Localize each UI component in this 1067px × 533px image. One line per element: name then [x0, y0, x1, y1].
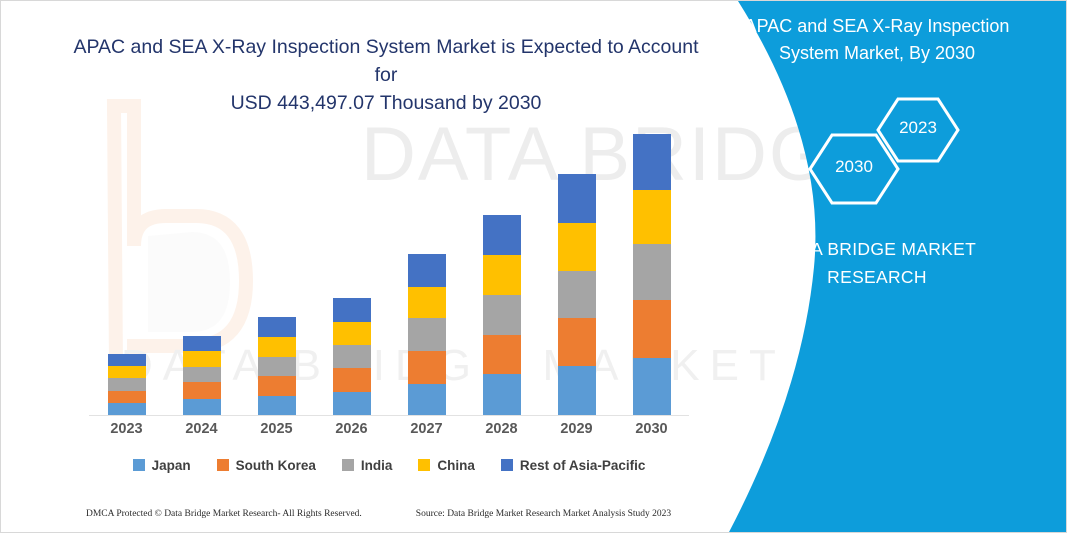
bar-2026	[333, 298, 371, 415]
x-axis-line	[89, 415, 689, 416]
bar-segment-japan-2028	[483, 374, 521, 415]
legend-swatch-icon	[342, 459, 354, 471]
bar-segment-china-2027	[408, 287, 446, 319]
x-axis-label-2025: 2025	[247, 421, 307, 437]
bar-segment-china-2026	[333, 322, 371, 345]
x-axis-label-2027: 2027	[397, 421, 457, 437]
bar-segment-china-2030	[633, 190, 671, 244]
bar-segment-china-2025	[258, 337, 296, 357]
chart-legend: JapanSouth KoreaIndiaChinaRest of Asia-P…	[89, 453, 689, 477]
bar-segment-south-korea-2028	[483, 335, 521, 375]
brand-line2: RESEARCH	[712, 263, 1042, 291]
legend-label: South Korea	[236, 458, 316, 473]
bar-2030	[633, 134, 671, 415]
bar-segment-japan-2023	[108, 403, 146, 415]
footer-source: Source: Data Bridge Market Research Mark…	[416, 509, 671, 519]
bar-segment-india-2027	[408, 318, 446, 351]
legend-item-japan[interactable]: Japan	[133, 458, 191, 473]
legend-swatch-icon	[501, 459, 513, 471]
bar-2028	[483, 215, 521, 415]
bar-segment-south-korea-2029	[558, 318, 596, 366]
page-title-line1: APAC and SEA X-Ray Inspection System Mar…	[61, 33, 711, 89]
bar-segment-japan-2026	[333, 392, 371, 415]
panel-title-line1: APAC and SEA X-Ray Inspection	[712, 13, 1042, 40]
bar-segment-south-korea-2026	[333, 368, 371, 391]
legend-label: Japan	[152, 458, 191, 473]
bar-segment-south-korea-2024	[183, 382, 221, 398]
bar-segment-japan-2024	[183, 399, 221, 415]
legend-item-china[interactable]: China	[418, 458, 475, 473]
x-axis-labels: 20232024202520262027202820292030	[89, 421, 689, 443]
bar-segment-china-2029	[558, 223, 596, 271]
bar-segment-china-2023	[108, 366, 146, 378]
bar-segment-rest-of-asia-pacific-2024	[183, 336, 221, 351]
bar-segment-rest-of-asia-pacific-2026	[333, 298, 371, 321]
footer-copyright: DMCA Protected © Data Bridge Market Rese…	[86, 509, 362, 519]
bar-segment-south-korea-2025	[258, 376, 296, 395]
hexagon-label-2023: 2023	[878, 118, 958, 138]
hexagon-outlines	[676, 97, 1066, 207]
bar-segment-rest-of-asia-pacific-2023	[108, 354, 146, 366]
bar-segment-china-2024	[183, 351, 221, 367]
bar-segment-india-2023	[108, 378, 146, 390]
footer: DMCA Protected © Data Bridge Market Rese…	[86, 509, 706, 519]
bar-2025	[258, 317, 296, 415]
bar-segment-south-korea-2023	[108, 391, 146, 403]
bar-segment-japan-2030	[633, 358, 671, 415]
bar-segment-rest-of-asia-pacific-2027	[408, 254, 446, 287]
x-axis-label-2026: 2026	[322, 421, 382, 437]
panel-title-line2: System Market, By 2030	[712, 40, 1042, 67]
brand-name: DATA BRIDGE MARKET RESEARCH	[712, 235, 1042, 291]
hexagon-group: 2023 2030	[676, 97, 1066, 207]
bar-segment-china-2028	[483, 255, 521, 295]
bar-2024	[183, 336, 221, 415]
bar-segment-rest-of-asia-pacific-2028	[483, 215, 521, 256]
stacked-bar-chart	[89, 111, 689, 416]
legend-swatch-icon	[217, 459, 229, 471]
legend-label: India	[361, 458, 393, 473]
legend-swatch-icon	[418, 459, 430, 471]
legend-item-south-korea[interactable]: South Korea	[217, 458, 316, 473]
panel-title: APAC and SEA X-Ray Inspection System Mar…	[712, 13, 1042, 67]
bar-segment-india-2025	[258, 357, 296, 376]
brand-line1: DATA BRIDGE MARKET	[712, 235, 1042, 263]
bar-segment-rest-of-asia-pacific-2030	[633, 134, 671, 190]
x-axis-label-2029: 2029	[547, 421, 607, 437]
bar-segment-south-korea-2027	[408, 351, 446, 384]
bar-segment-india-2028	[483, 295, 521, 335]
x-axis-label-2023: 2023	[97, 421, 157, 437]
bar-segment-india-2029	[558, 271, 596, 319]
bar-2029	[558, 174, 596, 415]
x-axis-label-2024: 2024	[172, 421, 232, 437]
legend-label: Rest of Asia-Pacific	[520, 458, 646, 473]
bar-2027	[408, 254, 446, 415]
brand-panel: APAC and SEA X-Ray Inspection System Mar…	[676, 1, 1066, 533]
legend-item-rest-of-asia-pacific[interactable]: Rest of Asia-Pacific	[501, 458, 646, 473]
chart-plot-area	[89, 111, 689, 416]
page-title: APAC and SEA X-Ray Inspection System Mar…	[61, 33, 711, 117]
bar-segment-india-2030	[633, 244, 671, 300]
bar-2023	[108, 354, 146, 415]
legend-swatch-icon	[133, 459, 145, 471]
legend-label: China	[437, 458, 475, 473]
bar-segment-south-korea-2030	[633, 300, 671, 358]
bar-segment-rest-of-asia-pacific-2025	[258, 317, 296, 336]
bar-segment-india-2024	[183, 367, 221, 382]
chart-infographic: DATA BRIDGE DATA BRIDGE MARKET RESEARCH …	[0, 0, 1067, 533]
legend-item-india[interactable]: India	[342, 458, 393, 473]
bar-segment-japan-2027	[408, 384, 446, 416]
x-axis-label-2028: 2028	[472, 421, 532, 437]
bar-segment-rest-of-asia-pacific-2029	[558, 174, 596, 223]
hexagon-label-2030: 2030	[814, 157, 894, 177]
bar-segment-india-2026	[333, 345, 371, 368]
x-axis-label-2030: 2030	[622, 421, 682, 437]
bar-segment-japan-2025	[258, 396, 296, 415]
bar-segment-japan-2029	[558, 366, 596, 415]
